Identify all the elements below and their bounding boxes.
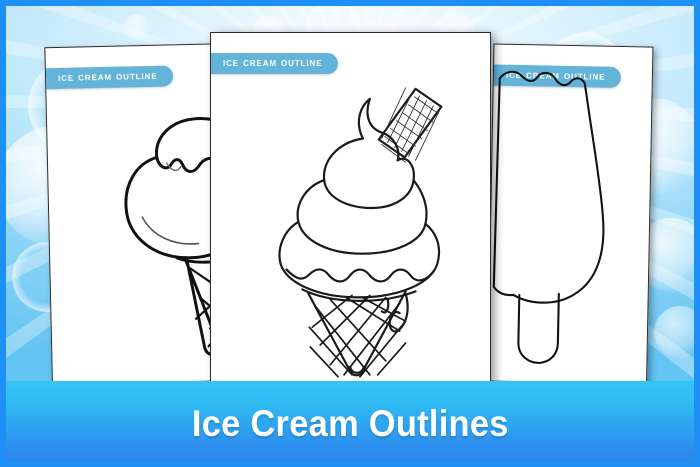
artwork-popsicle-bar [488, 45, 652, 384]
worksheet-sheet-center[interactable]: Ice Cream Outline [210, 32, 491, 384]
bottom-banner: Ice Cream Outlines [0, 381, 700, 467]
poster: Ice Cream Outline [0, 0, 700, 467]
wafer-stick [379, 88, 442, 162]
worksheet-sheet-right[interactable]: Ice Cream Outline [487, 44, 653, 385]
banner-title: Ice Cream Outlines [192, 403, 509, 445]
artwork-soft-serve-cone [211, 33, 490, 383]
